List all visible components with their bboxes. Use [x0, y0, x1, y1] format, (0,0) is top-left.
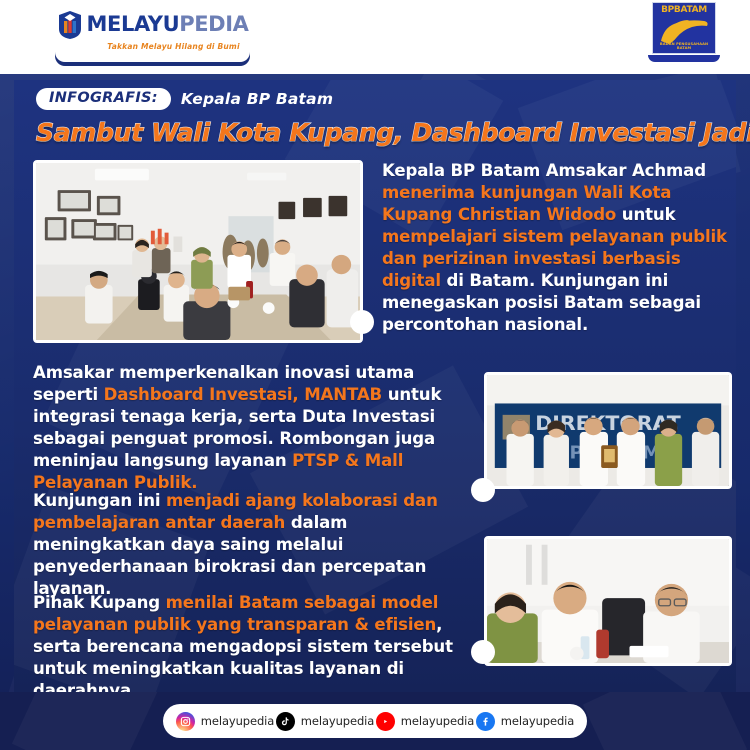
infografis-tag-row: INFOGRAFIS: Kepala BP Batam	[0, 86, 750, 112]
page-title: Sambut Wali Kota Kupang, Dashboard Inves…	[0, 118, 750, 147]
tiktok-icon	[276, 712, 295, 731]
discussion-photo	[484, 536, 732, 666]
decorative-dot	[471, 640, 495, 664]
bp-batam-plate: BPBATAM BADAN PENGUSAHAAN BATAM	[652, 2, 716, 54]
paragraph-2: Amsakar memperkenalkan inovasi utama sep…	[33, 362, 473, 494]
social-link-instagram[interactable]: melayupedia	[176, 712, 274, 731]
instagram-icon	[176, 712, 195, 731]
body-text: Kepala BP Batam Amsakar Achmad	[382, 161, 706, 180]
meeting-room-photo	[33, 160, 363, 343]
body-text: untuk	[622, 205, 676, 224]
melayupedia-shield-icon	[57, 10, 83, 40]
footer-polygon	[12, 692, 158, 750]
decorative-dot	[350, 310, 374, 334]
infografis-pill: INFOGRAFIS:	[36, 88, 171, 110]
bp-batam-base	[648, 55, 720, 62]
body-text: Kunjungan ini	[33, 491, 166, 510]
melayupedia-logo: MELAYUPEDIA Takkan Melayu Hilang di Bumi	[55, 0, 250, 62]
infographic-poster: MELAYUPEDIA Takkan Melayu Hilang di Bumi…	[0, 0, 750, 750]
header-bar: MELAYUPEDIA Takkan Melayu Hilang di Bumi…	[0, 0, 750, 74]
social-handle: melayupedia	[301, 714, 374, 728]
logo-tagline: Takkan Melayu Hilang di Bumi	[107, 42, 239, 51]
social-link-youtube[interactable]: melayupedia	[376, 712, 474, 731]
social-handle: melayupedia	[201, 714, 274, 728]
social-handle: melayupedia	[501, 714, 574, 728]
facebook-icon	[476, 712, 495, 731]
highlighted-text: Dashboard Investasi, MANTAB	[104, 385, 388, 404]
melayupedia-wordmark: MELAYUPEDIA	[87, 14, 249, 35]
social-link-facebook[interactable]: melayupedia	[476, 712, 574, 731]
logo-word-bold: MELAYU	[87, 12, 180, 36]
social-handle: melayupedia	[401, 714, 474, 728]
logo-word-light: PEDIA	[179, 12, 248, 36]
paragraph-4: Pihak Kupang menilai Batam sebagai model…	[33, 592, 473, 702]
paragraph-1: Kepala BP Batam Amsakar Achmad menerima …	[382, 160, 732, 337]
paragraph-3: Kunjungan ini menjadi ajang kolaborasi d…	[33, 490, 473, 600]
group-plaque-photo: DIREKTORAT BP BATAM	[484, 372, 732, 489]
title-block: INFOGRAFIS: Kepala BP Batam Sambut Wali …	[0, 86, 750, 147]
body-text: Pihak Kupang	[33, 593, 166, 612]
social-link-tiktok[interactable]: melayupedia	[276, 712, 374, 731]
footer-polygon	[583, 692, 747, 750]
bp-batam-subtitle: BADAN PENGUSAHAAN BATAM	[653, 42, 715, 50]
decorative-dot	[471, 478, 495, 502]
bp-batam-logo: BPBATAM BADAN PENGUSAHAAN BATAM	[648, 2, 720, 62]
title-subject: Kepala BP Batam	[181, 90, 333, 108]
social-links-bar: melayupedia melayupedia melayupedia	[163, 704, 587, 738]
youtube-icon	[376, 712, 395, 731]
